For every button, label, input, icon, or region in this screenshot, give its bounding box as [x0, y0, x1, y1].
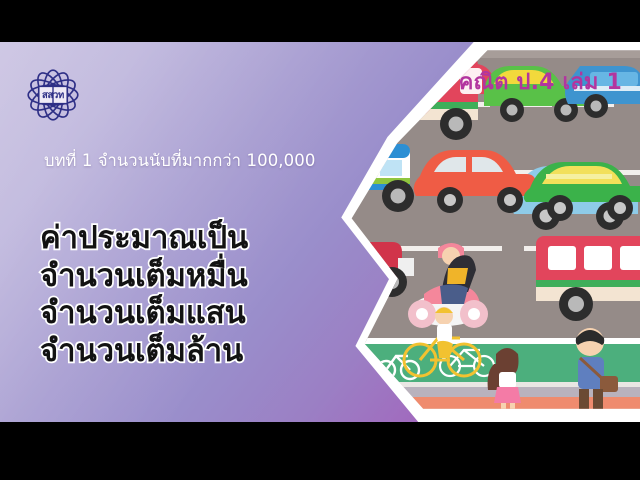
- letterbox-bottom: [0, 422, 640, 480]
- slide-stage: สสวท บทที่ 1 จำนวนนับที่มากกว่า 100,000 …: [0, 0, 640, 480]
- headline-line-3: จำนวนเต็มแสน: [40, 295, 360, 333]
- slide-left-panel: สสวท บทที่ 1 จำนวนนับที่มากกว่า 100,000 …: [0, 42, 372, 422]
- slide-headline: ค่าประมาณเป็น จำนวนเต็มหมื่น จำนวนเต็มแส…: [40, 220, 360, 370]
- book-label: คณิต ป.4 เล่ม 1: [459, 64, 622, 99]
- headline-line-1: ค่าประมาณเป็น: [40, 220, 360, 258]
- headline-line-2: จำนวนเต็มหมื่น: [40, 258, 360, 296]
- logo-text: สสวท: [42, 88, 64, 103]
- chapter-subtitle: บทที่ 1 จำนวนนับที่มากกว่า 100,000: [44, 149, 344, 172]
- headline-line-4: จำนวนเต็มล้าน: [40, 333, 360, 371]
- letterbox-top: [0, 0, 640, 42]
- presentation-slide: สสวท บทที่ 1 จำนวนนับที่มากกว่า 100,000 …: [0, 42, 640, 422]
- ipst-atom-logo-icon: สสวท: [22, 64, 84, 126]
